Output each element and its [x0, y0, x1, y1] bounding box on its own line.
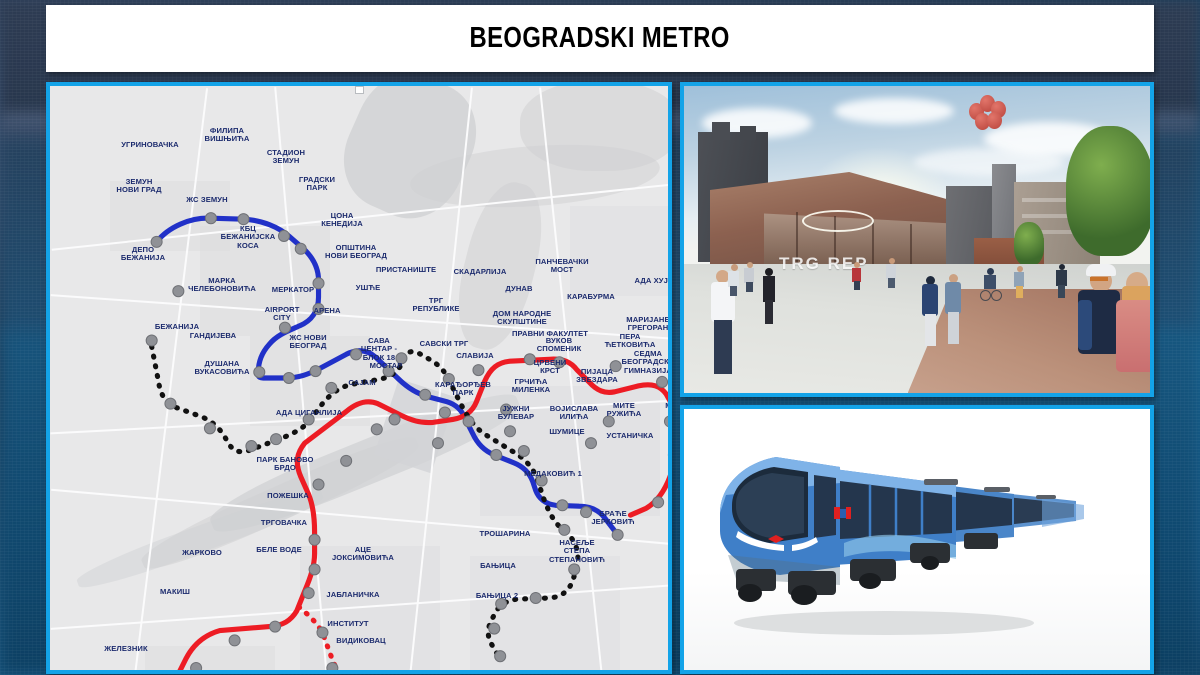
station-label: ДЕПО БЕЖАНИЈА	[99, 246, 187, 263]
station-label: НАСЕЉЕ СТЕПА СТЕПАНОВИЋ	[533, 539, 621, 564]
station-label: САВСКИ ТРГ	[400, 340, 488, 348]
pedestrian	[944, 274, 962, 344]
station-label: ТРГ РЕПУБЛИКЕ	[392, 297, 480, 314]
station-label: ОПШТИНА НОВИ БЕОГРАД	[312, 244, 400, 261]
station-label: БАЊИЦА	[454, 562, 542, 570]
pedestrian	[921, 276, 939, 346]
station-label: ЖАРКОВО	[158, 549, 246, 557]
station-label: МИРИЈЕВО	[643, 402, 668, 410]
station-label: ЖЕЛЕЗНИК	[82, 645, 170, 653]
station-label: АДА ЦИГАНЛИЈА	[265, 409, 353, 417]
pedestrian	[728, 264, 740, 296]
page-title: BEOGRADSKI METRO	[470, 22, 730, 55]
station-label: ТРГОВАЧКА	[240, 519, 328, 527]
pedestrian	[744, 262, 755, 292]
station-label: ДОМ НАРОДНЕ СКУПШТИНЕ	[478, 310, 566, 327]
station-label: УСТАНИЧКА	[586, 432, 668, 440]
station-label: КАРАБУРМА	[547, 293, 635, 301]
station-label: МЕДАКОВИЋ 1	[509, 470, 597, 478]
station-label: ЛАБУДОВО БРДО	[319, 669, 407, 670]
station-label: УШЋЕ	[324, 284, 412, 292]
station-label: ЦОНА КЕНЕДИЈА	[298, 212, 386, 229]
pedestrian	[886, 258, 897, 288]
station-label: ЈАБЛАНИЧКА	[309, 591, 397, 599]
metro-train-image	[684, 409, 1150, 670]
station-label: БРАЋЕ ЈЕРКОВИЋ	[569, 510, 657, 527]
balloons-icon	[967, 95, 1011, 129]
station-label: СКАДАРЛИЈА	[436, 268, 524, 276]
slide-title-panel: BEOGRADSKI METRO	[46, 5, 1154, 72]
station-label: ЗЕМУН НОВИ ГРАД	[95, 178, 183, 195]
pedestrian	[1056, 264, 1068, 298]
station-label: АЦЕ ЈОКСИМОВИЋА	[319, 546, 407, 563]
tree	[1066, 126, 1150, 256]
station-label: МОСТАР	[342, 362, 430, 370]
station-label: СТАДИОН ЗЕМУН	[242, 149, 330, 166]
pedestrian	[1014, 266, 1025, 298]
cyclist	[980, 268, 1002, 304]
map-scroll-handle[interactable]	[355, 86, 364, 94]
station-label: ИНСТИТУТ	[304, 620, 392, 628]
metro-map-panel[interactable]: УГРИНОВАЧКАФИЛИПА ВИШЊИЋАСТАДИОН ЗЕМУНГР…	[46, 82, 672, 674]
station-label: ПЕРА ЋЕТКОВИЋА	[586, 333, 668, 350]
station-render-panel[interactable]: TRG REP	[680, 82, 1154, 397]
station-label: ПОЖЕШКА	[244, 492, 332, 500]
station-label: САЈАМ	[318, 379, 406, 387]
pedestrian	[1116, 268, 1150, 393]
station-label: АРЕНА	[283, 307, 371, 315]
station-label: АДА ХУЈА	[610, 277, 668, 285]
tree	[1014, 222, 1044, 266]
station-label: ДУШАНА ВУКАСОВИЋА	[178, 360, 266, 377]
station-render-image: TRG REP	[684, 86, 1150, 393]
station-label: ГРАДСКИ ПАРК	[273, 176, 361, 193]
station-label: ПАРК БАНОВО БРДО	[241, 456, 329, 473]
station-label: УГРИНОВАЧКА	[106, 141, 194, 149]
station-label: МАКИШ	[131, 588, 219, 596]
station-label: ПАНЧЕВАЧКИ МОСТ	[518, 258, 606, 275]
metro-train-panel[interactable]	[680, 405, 1154, 674]
station-label: БЕЛЕ ВОДЕ	[235, 546, 323, 554]
pedestrian	[852, 262, 862, 290]
station-label: ТРОШАРИНА	[461, 530, 549, 538]
station-label: ГАНДИЈЕВА	[169, 332, 257, 340]
station-label: ВИДИКОВАЦ	[317, 637, 405, 645]
station-label: ЖС ЗЕМУН	[163, 196, 251, 204]
pedestrian	[762, 268, 776, 324]
metro-map-canvas[interactable]: УГРИНОВАЧКАФИЛИПА ВИШЊИЋАСТАДИОН ЗЕМУНГР…	[50, 86, 668, 670]
station-label: ГРЧИЋА МИЛЕНКА	[487, 378, 575, 395]
station-label: КБЦ БЕЖАНИЈСКА КОСА	[204, 225, 292, 250]
station-label: БАЊИЦА 2	[453, 592, 541, 600]
station-label: ФИЛИПА ВИШЊИЋА	[183, 127, 271, 144]
station-label: МАРИЈАНЕ ГРЕГОРАН	[604, 316, 668, 333]
